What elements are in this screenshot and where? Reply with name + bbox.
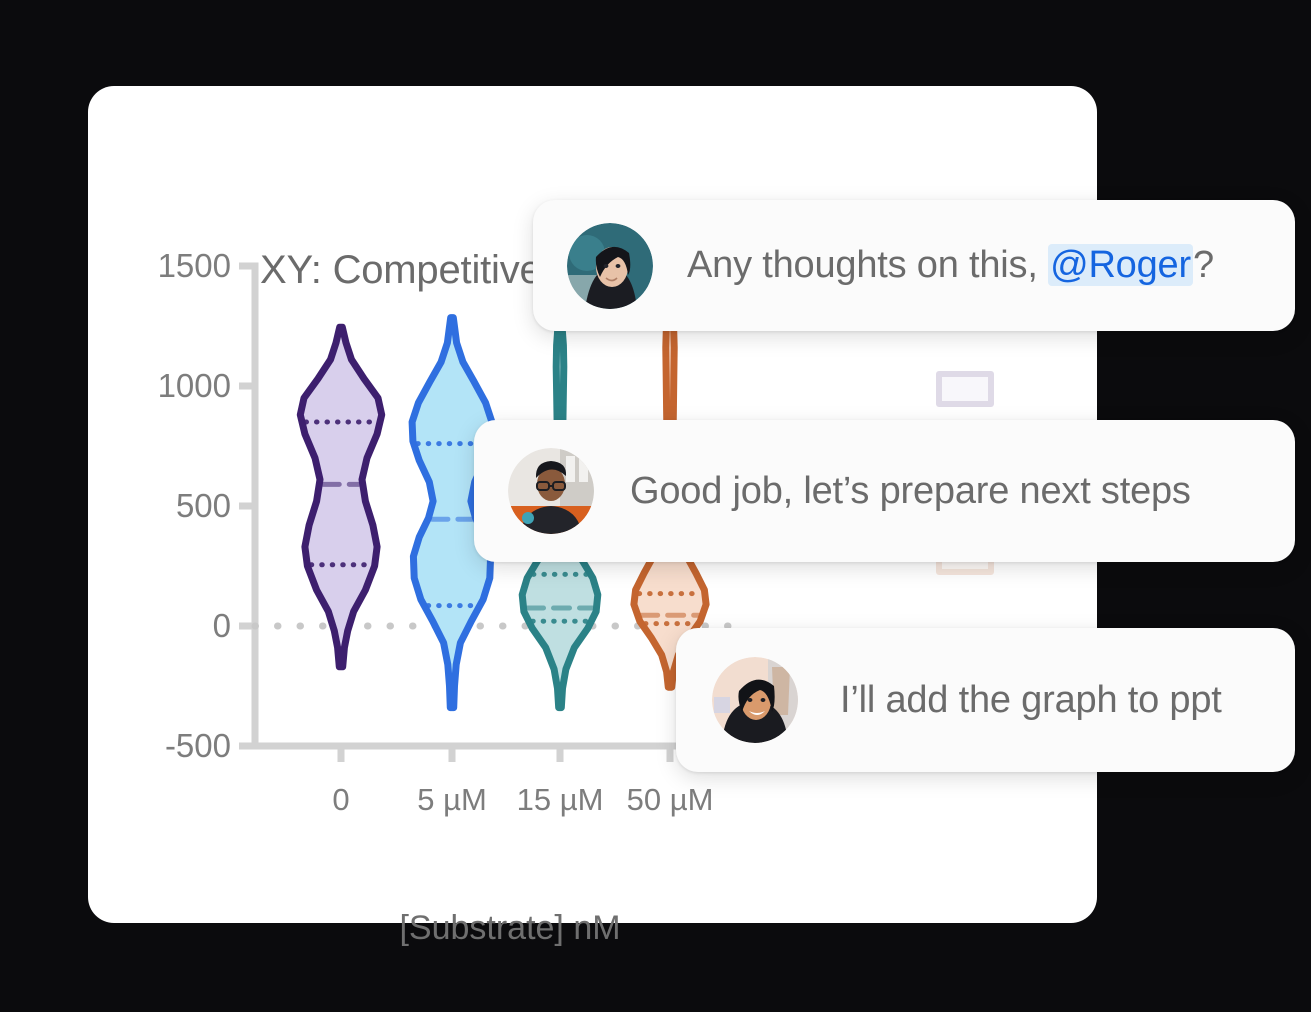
comment-card[interactable]: Any thoughts on this, @Roger? — [533, 200, 1295, 331]
comment-card[interactable]: Good job, let’s prepare next steps — [474, 420, 1295, 562]
y-tick-label: 500 — [88, 487, 231, 525]
comment-text-before: I’ll add the graph to ppt — [840, 679, 1222, 721]
x-tick-label: 0 — [332, 782, 349, 818]
avatar[interactable] — [712, 657, 798, 743]
comment-text: Any thoughts on this, @Roger? — [687, 244, 1214, 287]
comment-text: I’ll add the graph to ppt — [840, 679, 1222, 722]
y-tick-label: 0 — [88, 607, 231, 645]
y-tick-label: 1000 — [88, 367, 231, 405]
x-tick-label: 50 µM — [627, 782, 714, 818]
comment-card[interactable]: I’ll add the graph to ppt — [676, 628, 1295, 772]
mention-chip[interactable]: @Roger — [1048, 244, 1193, 286]
avatar[interactable] — [508, 448, 594, 534]
comment-text: Good job, let’s prepare next steps — [630, 470, 1191, 513]
comment-text-before: Any thoughts on this, — [687, 244, 1048, 286]
x-axis-title: [Substrate] nM — [399, 909, 620, 948]
avatar[interactable] — [567, 223, 653, 309]
screen: XY: Competitive inhibition 150010005000-… — [0, 0, 1311, 1012]
y-tick-label: 1500 — [88, 247, 231, 285]
x-tick-label: 15 µM — [517, 782, 604, 818]
legend-item[interactable] — [936, 361, 1166, 417]
y-tick-label: -500 — [88, 727, 231, 765]
comment-text-before: Good job, let’s prepare next steps — [630, 470, 1191, 512]
legend-swatch — [936, 371, 994, 407]
comment-text-after: ? — [1193, 244, 1214, 286]
x-tick-label: 5 µM — [417, 782, 487, 818]
